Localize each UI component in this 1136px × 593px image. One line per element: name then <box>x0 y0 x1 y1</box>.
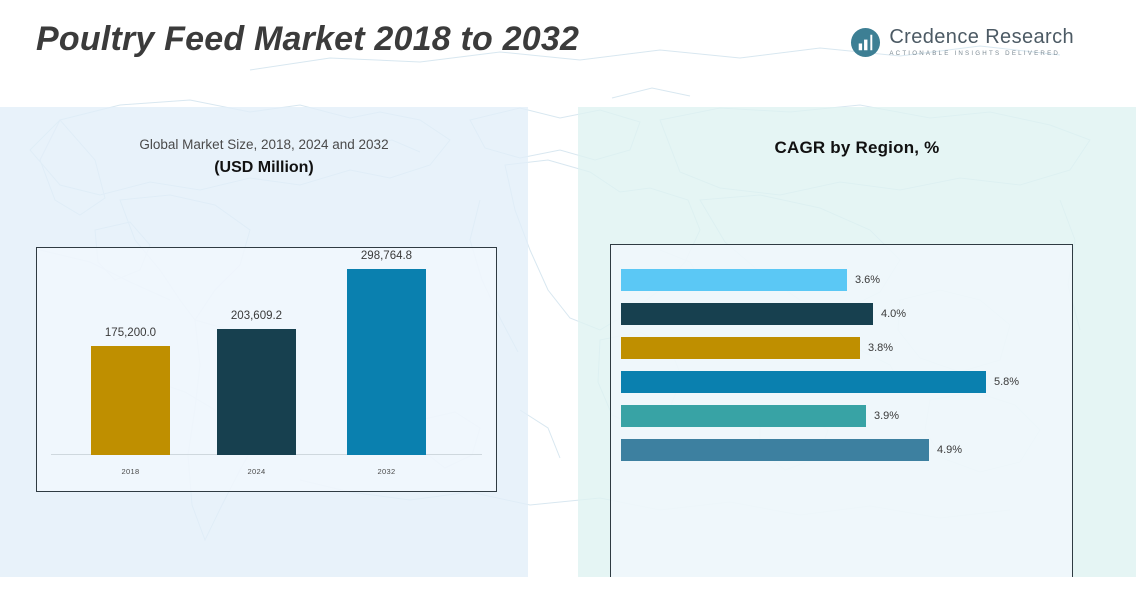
global-market-size-chart: 175,200.02018203,609.22024298,764.82032 <box>36 247 497 492</box>
bar <box>621 439 929 461</box>
column-bar <box>91 346 170 455</box>
logo-tagline: Actionable Insights Delivered <box>889 51 1074 57</box>
bar-row-north-america: 4.9% <box>621 439 1062 461</box>
column-2032: 298,764.82032 <box>347 269 426 455</box>
page-title: Poultry Feed Market 2018 to 2032 <box>36 20 579 59</box>
brand-logo: Credence Research Actionable Insights De… <box>850 27 1074 58</box>
header: Poultry Feed Market 2018 to 2032 Credenc… <box>0 0 1136 107</box>
left-panel: Global Market Size, 2018, 2024 and 2032 … <box>0 107 528 577</box>
right-panel: CAGR by Region, % 3.6%4.0%3.8%5.8%3.9%4.… <box>578 107 1136 577</box>
column-category-label: 2018 <box>122 467 140 476</box>
bar-row-europe: 3.9% <box>621 405 1062 427</box>
bar-value-label: 4.9% <box>937 444 962 456</box>
bar-value-label: 5.8% <box>994 376 1019 388</box>
bar-row-africa: 3.6% <box>621 269 1062 291</box>
bar-value-label: 4.0% <box>881 308 906 320</box>
right-panel-title: CAGR by Region, % <box>578 138 1136 158</box>
column-value-label: 298,764.8 <box>361 250 412 262</box>
column-bar <box>217 329 296 455</box>
bar-row-asia-pacific: 5.8% <box>621 371 1062 393</box>
column-2018: 175,200.02018 <box>91 346 170 455</box>
infographic-root: Poultry Feed Market 2018 to 2032 Credenc… <box>0 0 1136 593</box>
left-panel-subtitle: Global Market Size, 2018, 2024 and 2032 <box>0 137 528 152</box>
bar-row-middle-east: 4.0% <box>621 303 1062 325</box>
bar-value-label: 3.9% <box>874 410 899 422</box>
bar-chart-circle-icon <box>850 27 881 58</box>
column-category-label: 2024 <box>248 467 266 476</box>
column-bar <box>347 269 426 455</box>
bar-row-latin-america: 3.8% <box>621 337 1062 359</box>
left-panel-units: (USD Million) <box>0 159 528 177</box>
bar <box>621 303 873 325</box>
column-category-label: 2032 <box>378 467 396 476</box>
bar <box>621 371 986 393</box>
bar-value-label: 3.6% <box>855 274 880 286</box>
bar <box>621 405 866 427</box>
logo-text: Credence Research Actionable Insights De… <box>889 27 1074 57</box>
bar <box>621 337 860 359</box>
bar-plot-area: 3.6%4.0%3.8%5.8%3.9%4.9% <box>611 259 1072 559</box>
cagr-by-region-chart: 3.6%4.0%3.8%5.8%3.9%4.9% North AmericaEu… <box>610 244 1073 577</box>
column-value-label: 175,200.0 <box>105 327 156 339</box>
column-plot-area: 175,200.02018203,609.22024298,764.82032 <box>37 248 496 491</box>
bar-value-label: 3.8% <box>868 342 893 354</box>
column-value-label: 203,609.2 <box>231 310 282 322</box>
column-2024: 203,609.22024 <box>217 329 296 455</box>
bar <box>621 269 847 291</box>
logo-name: Credence Research <box>889 27 1074 47</box>
